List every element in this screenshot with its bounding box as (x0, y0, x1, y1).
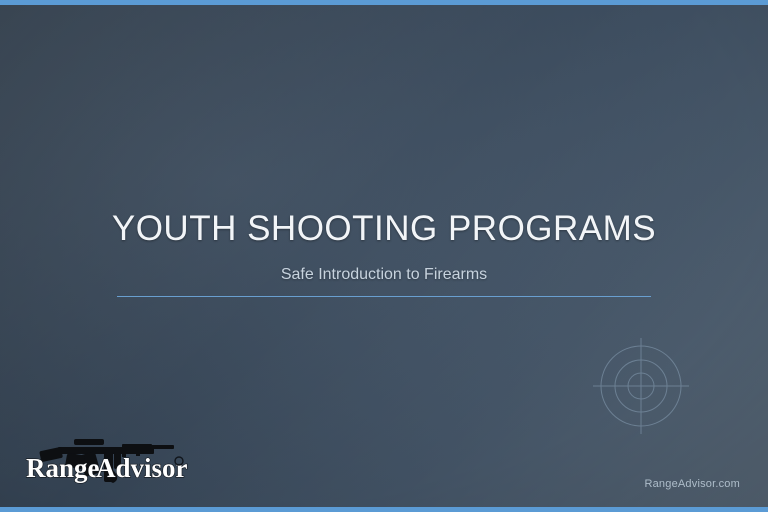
footer-website: RangeAdvisor.com (644, 478, 740, 490)
crosshair-target-icon (592, 337, 690, 435)
page-subtitle: Safe Introduction to Firearms (0, 266, 768, 284)
title-slide: YOUTH SHOOTING PROGRAMS Safe Introductio… (0, 0, 768, 512)
logo-text-primary: Range (26, 453, 100, 483)
logo-text-secondary: Advisor (96, 453, 188, 483)
page-title: YOUTH SHOOTING PROGRAMS (0, 210, 768, 249)
brand-logo: Range Advisor (22, 425, 197, 493)
title-divider (117, 296, 651, 297)
title-block: YOUTH SHOOTING PROGRAMS Safe Introductio… (0, 210, 768, 284)
